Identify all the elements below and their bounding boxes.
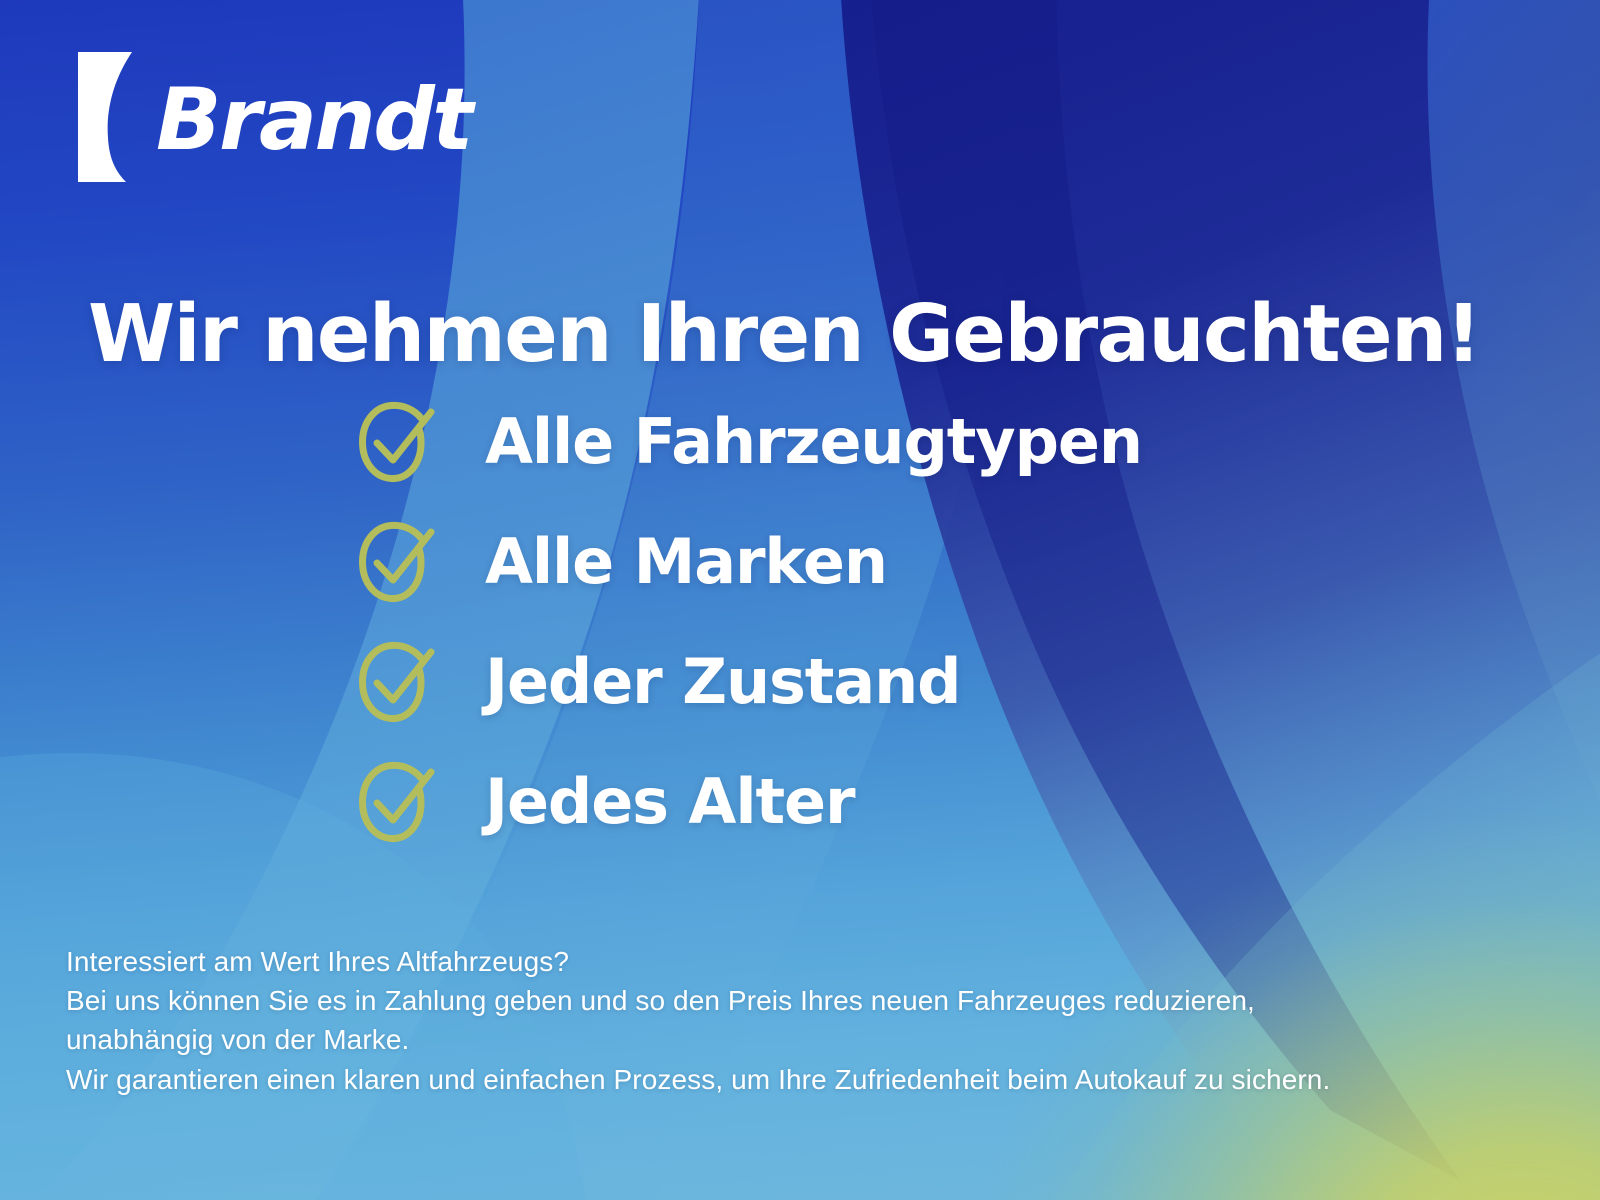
benefit-label: Jedes Alter	[485, 771, 854, 833]
circle-check-icon	[355, 638, 443, 726]
benefit-label: Alle Marken	[485, 531, 887, 593]
brandt-bracket-icon	[72, 52, 150, 182]
footnote-line-1: Interessiert am Wert Ihres Altfahrzeugs?	[66, 942, 1496, 981]
footnote-line-3: unabhängig von der Marke.	[66, 1020, 1496, 1059]
benefit-list: Alle Fahrzeugtypen Alle Marken Jeder Zus…	[355, 398, 1142, 846]
brand-wordmark: Brandt	[156, 77, 471, 163]
promo-banner: Brandt Wir nehmen Ihren Gebrauchten! All…	[0, 0, 1600, 1200]
circle-check-icon	[355, 518, 443, 606]
benefit-item: Alle Fahrzeugtypen	[355, 398, 1142, 486]
headline: Wir nehmen Ihren Gebrauchten!	[88, 293, 1480, 377]
footnote-paragraph: Interessiert am Wert Ihres Altfahrzeugs?…	[66, 942, 1496, 1099]
benefit-label: Jeder Zustand	[485, 651, 960, 713]
footnote-line-2: Bei uns können Sie es in Zahlung geben u…	[66, 981, 1496, 1020]
benefit-label: Alle Fahrzeugtypen	[485, 411, 1142, 473]
circle-check-icon	[355, 398, 443, 486]
benefit-item: Alle Marken	[355, 518, 1142, 606]
benefit-item: Jeder Zustand	[355, 638, 1142, 726]
brand-logo[interactable]: Brandt	[72, 52, 471, 182]
benefit-item: Jedes Alter	[355, 758, 1142, 846]
footnote-line-4: Wir garantieren einen klaren und einfach…	[66, 1060, 1496, 1099]
circle-check-icon	[355, 758, 443, 846]
